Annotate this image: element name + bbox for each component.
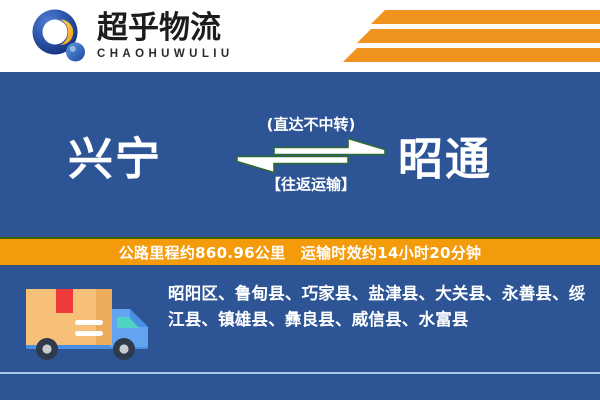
destination-city: 昭通	[398, 122, 492, 187]
bottom-divider	[0, 372, 600, 374]
route-info-bar: 公路里程约860.96公里 运输时效约14小时20分钟	[0, 237, 600, 267]
decorative-stripes	[330, 8, 600, 66]
coverage-section: 昭阳区、鲁甸县、巧家县、盐津县、大关县、永善县、绥江县、镇雄县、彝良县、威信县、…	[0, 267, 600, 372]
coverage-area-list: 昭阳区、鲁甸县、巧家县、盐津县、大关县、永善县、绥江县、镇雄县、彝良县、威信县、…	[168, 281, 588, 332]
transfer-indicator: (直达不中转) 【往返运输】	[236, 117, 386, 192]
brand-logo-group: 超乎物流 CHAOHUWULIU	[30, 7, 234, 65]
banner-body: 兴宁 (直达不中转) 【往返运输】 昭通 公路里程约860.96公里 运输时效约…	[0, 72, 600, 400]
round-trip-note: 【往返运输】	[236, 177, 386, 192]
route-row: 兴宁 (直达不中转) 【往返运输】 昭通	[0, 72, 600, 237]
distance-duration-text: 公路里程约860.96公里 运输时效约14小时20分钟	[119, 242, 482, 263]
bidirectional-arrow-icon	[236, 137, 386, 173]
logistics-route-banner: 超乎物流 CHAOHUWULIU 兴宁 (直达不中转)	[0, 0, 600, 400]
brand-name-en: CHAOHUWULIU	[97, 48, 234, 60]
banner-header: 超乎物流 CHAOHUWULIU	[0, 0, 600, 72]
brand-wordmark: 超乎物流 CHAOHUWULIU	[97, 12, 234, 59]
origin-city: 兴宁	[68, 122, 162, 187]
brand-name-cn: 超乎物流	[97, 12, 234, 45]
direct-route-note: (直达不中转)	[236, 117, 386, 132]
circle-q-logo-icon	[30, 7, 88, 65]
delivery-truck-icon	[18, 279, 158, 367]
